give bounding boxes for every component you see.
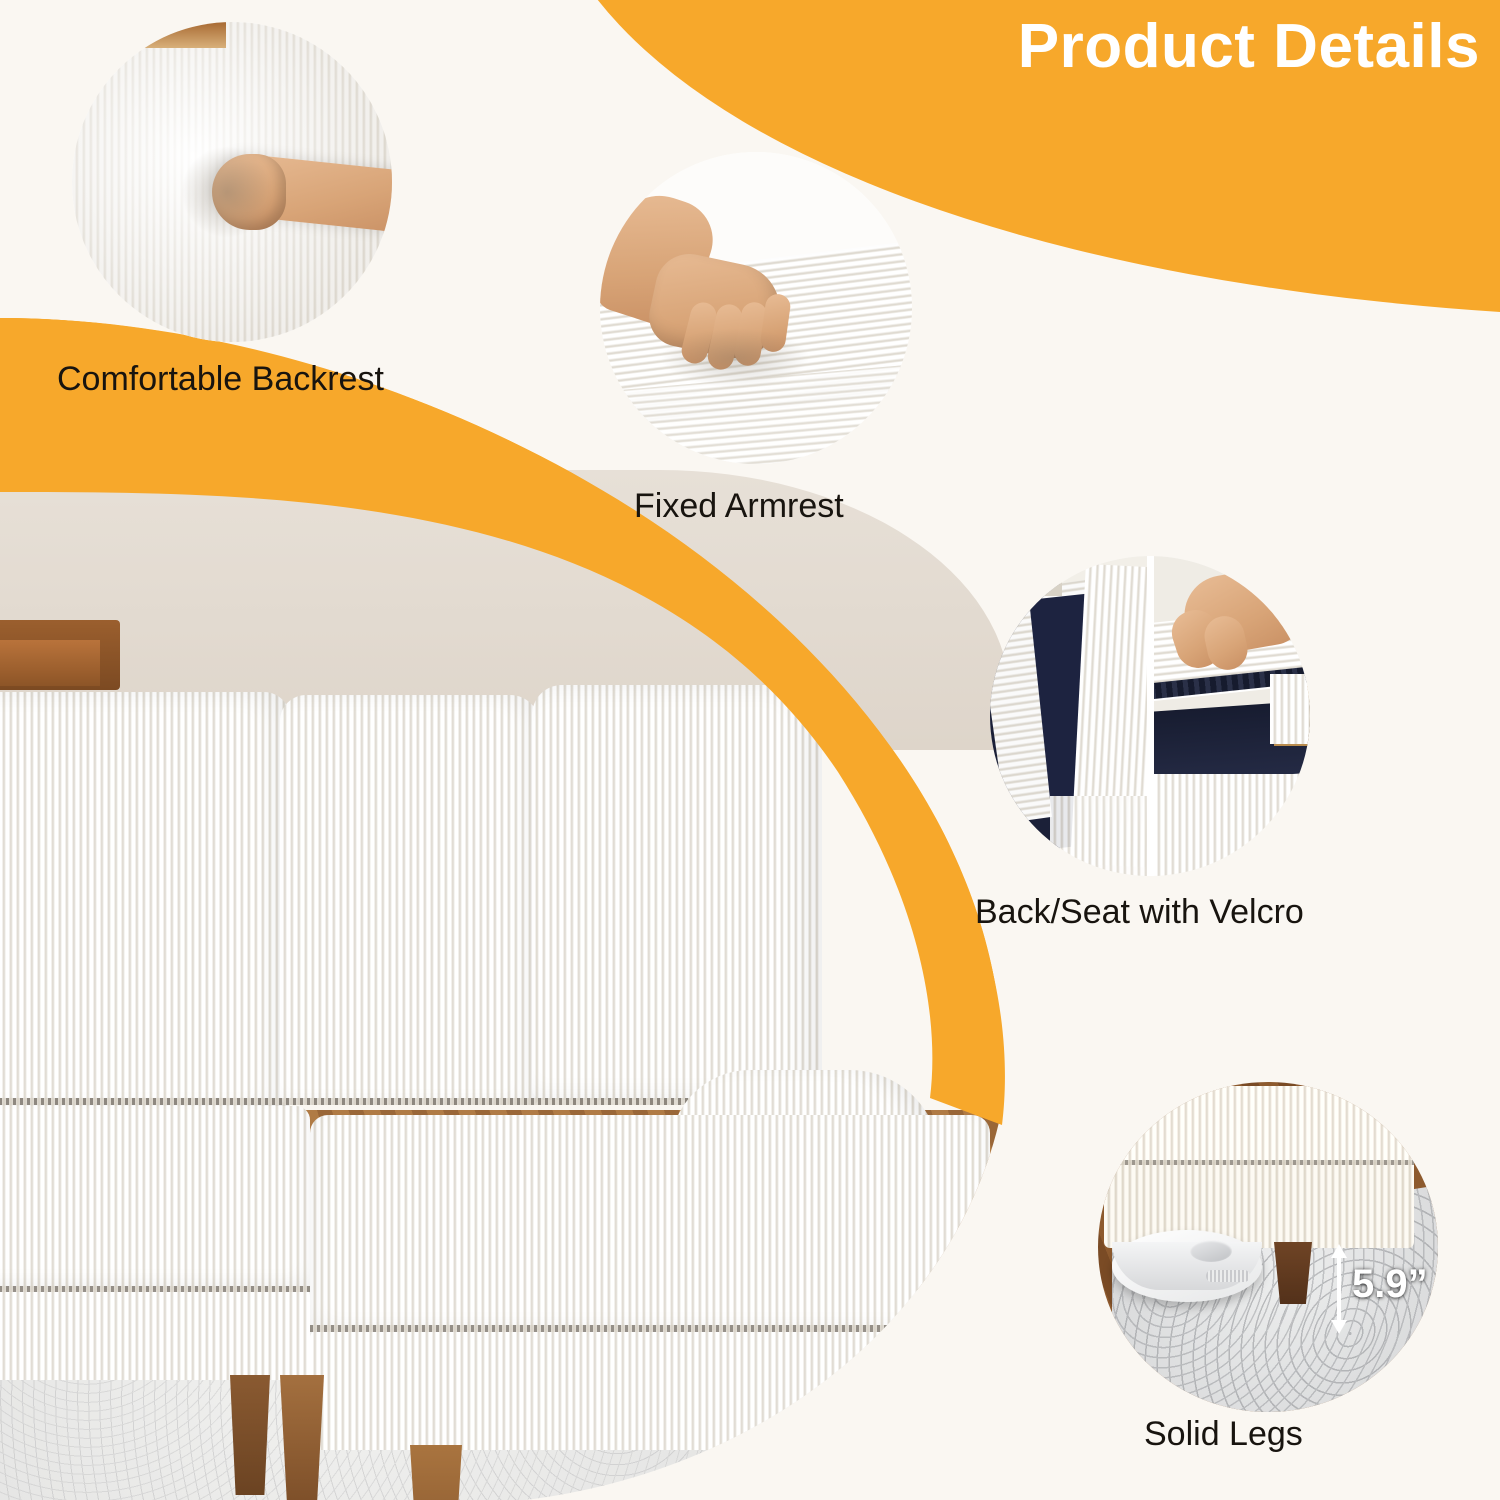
feature-image-back-seat-velcro [990, 556, 1310, 876]
dimension-arrow-icon [1326, 1244, 1352, 1334]
feature-label-solid-legs: Solid Legs [1144, 1415, 1303, 1454]
feature-label-comfortable-backrest: Comfortable Backrest [57, 360, 384, 399]
feature-image-solid-legs [1098, 1082, 1438, 1412]
feature-label-back-seat-velcro: Back/Seat with Velcro [975, 893, 1304, 932]
feature-label-fixed-armrest: Fixed Armrest [634, 487, 844, 526]
leg-clearance-dimension: 5.9” [1352, 1262, 1428, 1307]
product-details-infographic: Product Details Comfortable Backrest Fix… [0, 0, 1500, 1500]
feature-image-comfortable-backrest [72, 22, 392, 342]
page-title: Product Details [1018, 16, 1480, 78]
hero-sofa-photo [0, 470, 1010, 1500]
feature-image-fixed-armrest [600, 152, 912, 464]
